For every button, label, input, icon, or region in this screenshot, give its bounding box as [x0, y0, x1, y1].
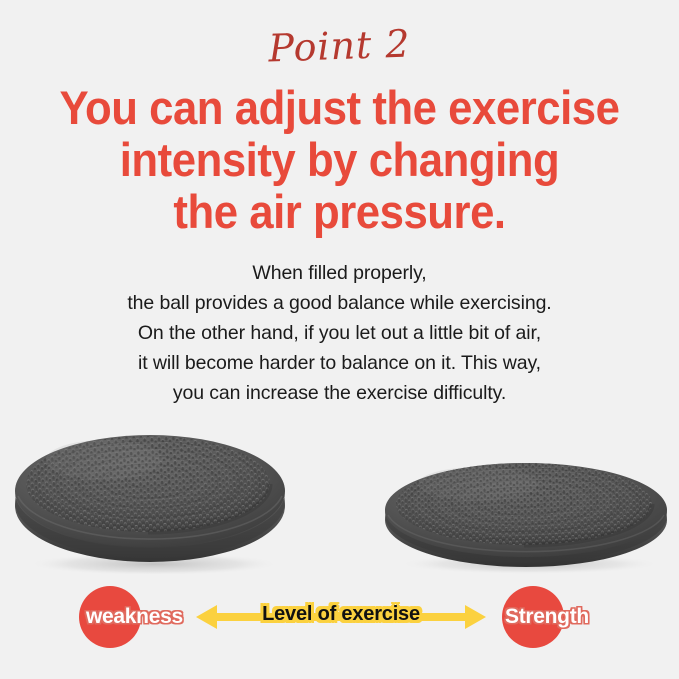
weakness-label: weakness [86, 602, 183, 632]
exercise-level-scale: weakness Level of exercise Strength [0, 586, 679, 650]
body-line-2: the ball provides a good balance while e… [0, 288, 679, 318]
headline-line-3: the air pressure. [24, 186, 655, 238]
balance-cushion-fully-inflated [12, 428, 288, 574]
body-line-3: On the other hand, if you let out a litt… [0, 318, 679, 348]
strength-label: Strength [505, 602, 589, 632]
balance-cushion-less-inflated [382, 458, 670, 574]
level-of-exercise-label: Level of exercise [196, 603, 486, 626]
body-line-5: you can increase the exercise difficulty… [0, 378, 679, 408]
body-line-1: When filled properly, [0, 258, 679, 288]
body-line-4: it will become harder to balance on it. … [0, 348, 679, 378]
point-label: Point 2 [0, 14, 679, 79]
level-of-exercise-arrow: Level of exercise [196, 598, 486, 636]
headline-line-1: You can adjust the exercise [24, 82, 655, 134]
headline-line-2: intensity by changing [24, 134, 655, 186]
infographic-page: Point 2 You can adjust the exercise inte… [0, 0, 679, 679]
body-copy: When filled properly, the ball provides … [0, 258, 679, 408]
page-title: You can adjust the exercise intensity by… [24, 82, 655, 238]
